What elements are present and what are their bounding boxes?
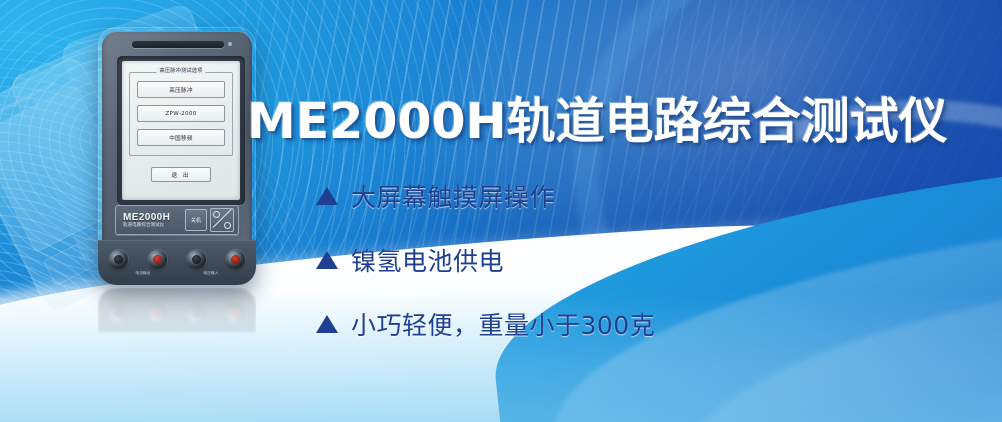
feature-list: 大屏幕触摸屏操作 镍氢电池供电 小巧轻便，重量小于300克 <box>316 178 655 370</box>
device-touchscreen[interactable]: 高压脉冲测试选项 高压脉冲 ZPW-2000 中国移频 退 出 <box>122 61 240 200</box>
feature-item-touchscreen: 大屏幕触摸屏操作 <box>316 178 655 214</box>
screen-button-china-shift-freq[interactable]: 中国移频 <box>137 129 225 146</box>
device-top-slot <box>132 41 224 48</box>
page-title: ME2000H轨道电路综合测试仪 <box>247 82 948 153</box>
feature-item-weight: 小巧轻便，重量小于300克 <box>316 306 655 342</box>
feature-label: 大屏幕触摸屏操作 <box>351 178 555 214</box>
voltage-input-black-jack[interactable] <box>187 250 206 269</box>
device-branding: ME2000H 轨道电路综合测试仪 <box>120 212 183 229</box>
triangle-bullet-icon <box>316 187 338 205</box>
jack-label-current-output: 电流输出 <box>135 271 150 276</box>
feature-label: 小巧轻便，重量小于300克 <box>351 306 655 342</box>
current-output-black-jack[interactable] <box>109 250 128 269</box>
brightness-contrast-icon[interactable] <box>210 208 234 232</box>
screen-button-zpw2000[interactable]: ZPW-2000 <box>137 105 225 122</box>
device-connector-panel: 电流输出 电压输入 <box>98 240 256 285</box>
device-indicator-dot <box>228 42 232 46</box>
feature-label: 镍氢电池供电 <box>351 242 504 278</box>
device-model-label: ME2000H <box>123 212 183 223</box>
screen-group-legend: 高压脉冲测试选项 <box>156 67 205 74</box>
triangle-bullet-icon <box>316 315 338 333</box>
contrast-dot-top <box>213 211 220 218</box>
screen-option-group: 高压脉冲测试选项 高压脉冲 ZPW-2000 中国移频 <box>129 72 233 156</box>
device-jack-labels: 电流输出 电压输入 <box>109 271 245 276</box>
triangle-bullet-icon <box>316 251 338 269</box>
screen-button-high-voltage-pulse[interactable]: 高压脉冲 <box>137 81 225 98</box>
screen-exit-button[interactable]: 退 出 <box>151 167 211 182</box>
device-screen-bezel: 高压脉冲测试选项 高压脉冲 ZPW-2000 中国移频 退 出 <box>117 56 245 205</box>
feature-item-battery: 镍氢电池供电 <box>316 242 655 278</box>
device-jack-row <box>109 246 245 272</box>
product-banner: ME2000H ME2000H ME2000H 高 <box>0 0 1002 422</box>
me2000h-device: 高压脉冲测试选项 高压脉冲 ZPW-2000 中国移频 退 出 ME2000H … <box>98 27 256 285</box>
contrast-dot-bottom <box>224 222 231 229</box>
current-output-red-jack[interactable] <box>148 250 167 269</box>
device-model-subtitle: 轨道电路综合测试仪 <box>123 223 183 229</box>
jack-label-voltage-input: 电压输入 <box>203 271 218 276</box>
voltage-input-red-jack[interactable] <box>226 250 245 269</box>
power-off-button[interactable]: 关机 <box>185 209 207 231</box>
device-front-plate: ME2000H 轨道电路综合测试仪 关机 <box>115 205 239 235</box>
